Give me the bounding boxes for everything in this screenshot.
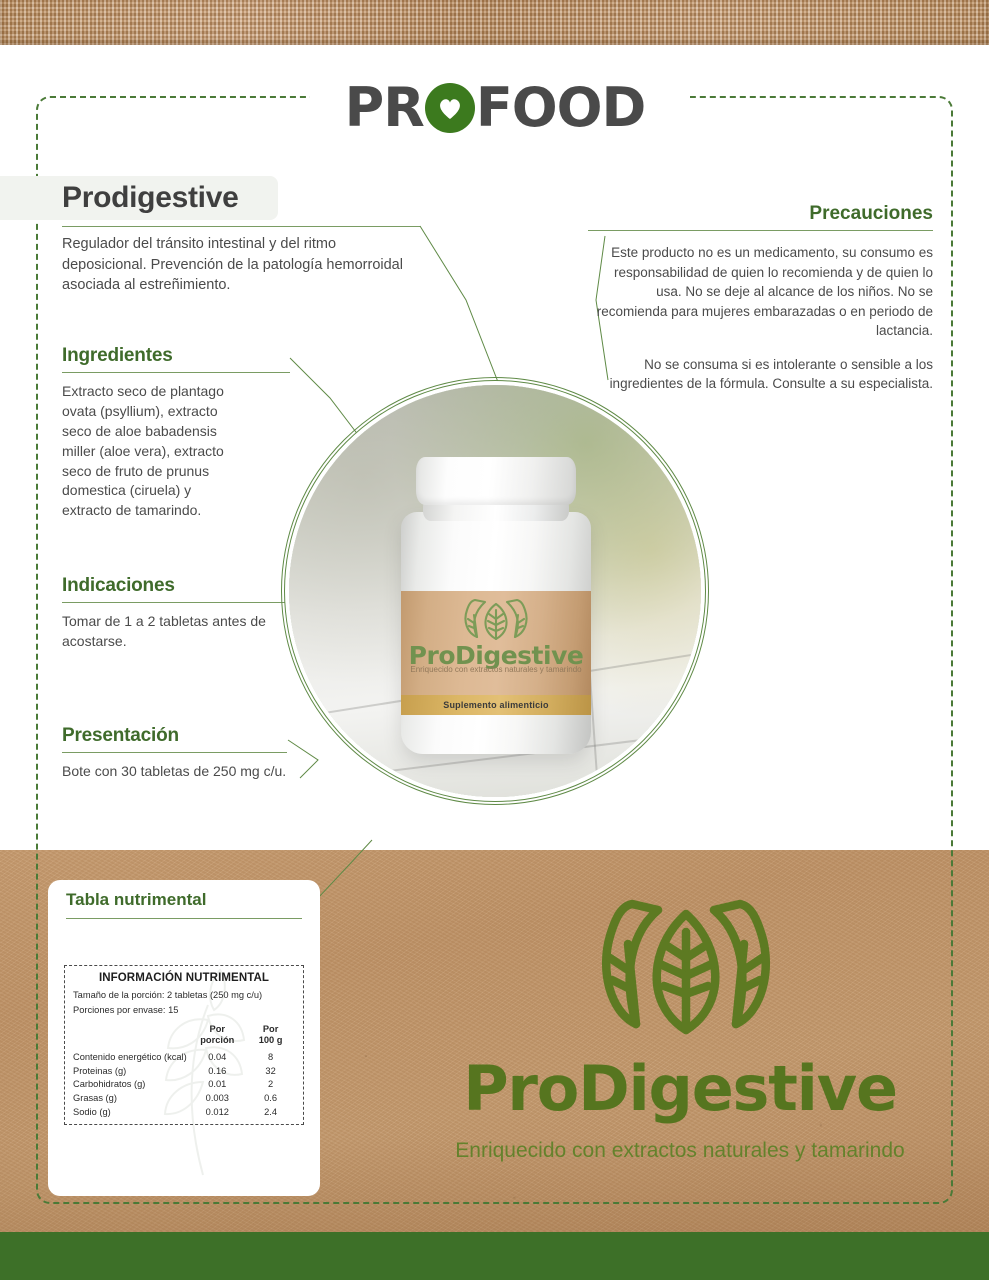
section-divider <box>62 752 287 753</box>
nutrient-name: Carbohidratos (g) <box>73 1078 188 1092</box>
logo-text-food: FOOD <box>476 81 646 135</box>
section-heading-ingredientes: Ingredientes <box>62 345 292 367</box>
nutrition-facts-box: INFORMACIÓN NUTRIMENTAL Tamaño de la por… <box>64 965 304 1125</box>
per-serving-line1: Por <box>210 1024 226 1034</box>
product-sheet-page: PRFOOD Prodigestive Regulador del tránsi… <box>0 0 989 1280</box>
section-presentacion: Presentación Bote con 30 tabletas de 250… <box>62 725 290 782</box>
nutrient-name: Proteinas (g) <box>73 1064 188 1078</box>
bottle-label: ProDigestive Enriquecido con extractos n… <box>401 591 591 695</box>
column-header-nutrient <box>73 1020 188 1051</box>
servings-per-container-text: Porciones por envase: 15 <box>73 1004 295 1016</box>
title-divider <box>62 226 420 227</box>
nutrition-facts-table: Por porción Por 100 g Contenido energéti… <box>73 1020 295 1119</box>
section-heading-presentacion: Presentación <box>62 725 290 747</box>
nutrient-per-serving: 0.003 <box>188 1091 246 1105</box>
section-heading-precauciones: Precauciones <box>588 203 933 225</box>
table-row: Proteinas (g) 0.16 32 <box>73 1064 295 1078</box>
two-leaves-icon <box>598 888 774 1045</box>
section-precauciones: Precauciones Este producto no es un medi… <box>588 203 933 408</box>
table-row: Grasas (g) 0.003 0.6 <box>73 1091 295 1105</box>
nutrient-name: Contenido energético (kcal) <box>73 1050 188 1064</box>
nutrient-per-serving: 0.012 <box>188 1105 246 1119</box>
table-row: Contenido energético (kcal) 0.04 8 <box>73 1050 295 1064</box>
brand-product-name: ProDigestive <box>430 1052 930 1125</box>
burlap-texture-band <box>0 0 989 45</box>
per-100g-line1: Por <box>263 1024 279 1034</box>
nutrition-facts-title: INFORMACIÓN NUTRIMENTAL <box>73 972 295 984</box>
supplement-bottle: ProDigestive Enriquecido con extractos n… <box>385 457 607 757</box>
page-title: Prodigestive <box>62 181 238 215</box>
table-header-row: Por porción Por 100 g <box>73 1020 295 1051</box>
precauciones-paragraph-1: Este producto no es un medicamento, su c… <box>588 243 933 341</box>
nutrient-name: Grasas (g) <box>73 1091 188 1105</box>
serving-size-text: Tamaño de la porción: 2 tabletas (250 mg… <box>73 989 295 1001</box>
nutritional-card-divider <box>66 918 302 919</box>
section-divider <box>62 602 287 603</box>
nutrient-per-100g: 8 <box>246 1050 295 1064</box>
per-serving-line2: porción <box>200 1035 234 1045</box>
table-row: Carbohidratos (g) 0.01 2 <box>73 1078 295 1092</box>
nutrient-per-100g: 32 <box>246 1064 295 1078</box>
bottle-label-gold-band: Suplemento alimenticio <box>401 695 591 715</box>
bottle-cap <box>416 457 576 505</box>
logo-text-pr: PR <box>345 81 424 135</box>
section-ingredientes: Ingredientes Extracto seco de plantago o… <box>62 345 292 521</box>
product-description: Regulador del tránsito intestinal y del … <box>62 234 424 296</box>
section-heading-indicaciones: Indicaciones <box>62 575 290 597</box>
section-indicaciones: Indicaciones Tomar de 1 a 2 tabletas ant… <box>62 575 290 652</box>
section-body-indicaciones: Tomar de 1 a 2 tabletas antes de acostar… <box>62 612 290 652</box>
nutrient-per-100g: 2 <box>246 1078 295 1092</box>
section-body-ingredientes: Extracto seco de plantago ovata (psylliu… <box>62 382 237 521</box>
footer-green-bar <box>0 1232 989 1280</box>
column-header-per-serving: Por porción <box>188 1020 246 1051</box>
nutritional-table-card: Tabla nutrimental INFORMACIÓN NUTRIMENTA… <box>48 880 320 1196</box>
section-body-presentacion: Bote con 30 tabletas de 250 mg c/u. <box>62 762 290 782</box>
nutrient-per-serving: 0.04 <box>188 1050 246 1064</box>
section-divider <box>588 230 933 231</box>
section-divider <box>62 372 290 373</box>
nutrient-per-serving: 0.16 <box>188 1064 246 1078</box>
profood-logo: PRFOOD <box>320 78 670 138</box>
brand-tagline: Enriquecido con extractos naturales y ta… <box>430 1138 930 1164</box>
bottle-label-category: Suplemento alimenticio <box>401 695 591 715</box>
product-photo-circle: ProDigestive Enriquecido con extractos n… <box>289 385 701 797</box>
nutrient-name: Sodio (g) <box>73 1105 188 1119</box>
nutrient-per-100g: 2.4 <box>246 1105 295 1119</box>
nutrient-per-serving: 0.01 <box>188 1078 246 1092</box>
nutritional-card-heading: Tabla nutrimental <box>66 890 206 910</box>
bottle-label-tagline: Enriquecido con extractos naturales y ta… <box>401 665 591 675</box>
per-100g-line2: 100 g <box>259 1035 283 1045</box>
heart-in-circle-icon <box>425 83 475 133</box>
table-row: Sodio (g) 0.012 2.4 <box>73 1105 295 1119</box>
column-header-per-100g: Por 100 g <box>246 1020 295 1051</box>
nutrient-per-100g: 0.6 <box>246 1091 295 1105</box>
